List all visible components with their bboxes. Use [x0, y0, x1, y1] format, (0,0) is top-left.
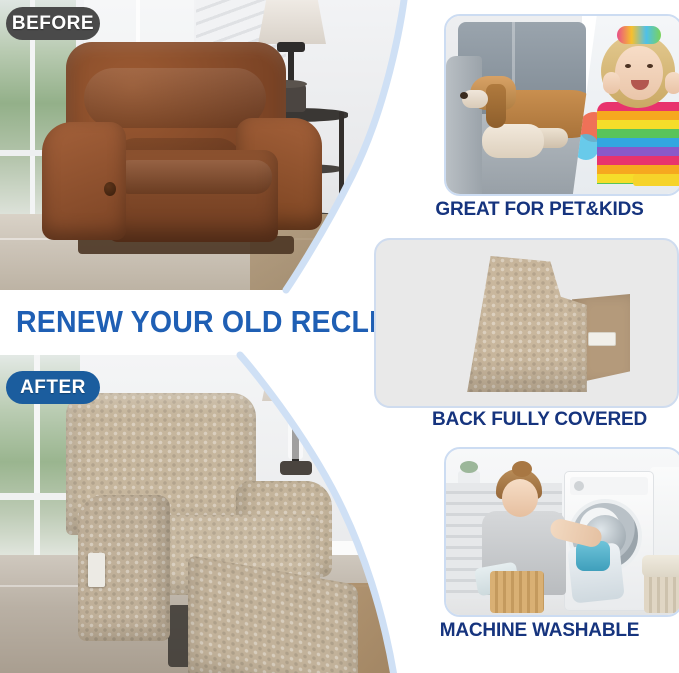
laundry-basket	[490, 571, 544, 613]
recliner-seat-before	[108, 150, 278, 242]
woman-face	[502, 479, 538, 517]
back-covered-photo	[374, 238, 679, 408]
girl-hair-bow	[617, 26, 661, 44]
dog-chest	[482, 124, 544, 158]
girl-face	[615, 46, 663, 100]
caption-pet-kids: GREAT FOR PET&KIDS	[400, 199, 679, 221]
badge-before: BEFORE	[6, 7, 100, 40]
hamper-cloth	[642, 555, 679, 577]
badge-after: AFTER	[6, 371, 100, 404]
product-infographic: BEFORE RENEW YOUR OLD RECLINER AFTER	[0, 0, 679, 673]
woman-hair-bun	[512, 461, 532, 477]
slipcover-brand-label	[588, 332, 616, 346]
girl-scene	[573, 16, 679, 194]
girl-eye-right	[647, 64, 653, 68]
washer-dial	[574, 481, 584, 491]
lamp-shade-before	[258, 0, 326, 44]
lamp-glass-after	[288, 411, 303, 459]
lamp-shade-after	[262, 355, 332, 401]
slipcover-back-panel	[462, 256, 592, 392]
lamp-base-after	[280, 461, 312, 475]
recliner-arm-left-before	[42, 122, 126, 240]
page-title: RENEW YOUR OLD RECLINER	[16, 300, 384, 344]
toy-block-yellow	[633, 174, 679, 186]
dog-scene	[446, 16, 582, 194]
pet-kids-photo	[444, 14, 679, 196]
dog-ear	[486, 84, 506, 128]
dog-nose	[460, 92, 468, 99]
machine-washable-photo	[444, 447, 679, 617]
recliner-knob-before	[104, 182, 116, 196]
girl-hand-left	[603, 72, 620, 94]
girl-striped-shirt	[597, 102, 679, 184]
caption-machine-washable: MACHINE WASHABLE	[400, 620, 679, 642]
before-photo	[0, 0, 430, 290]
side-table-leg-right	[339, 112, 344, 230]
caption-back-covered: BACK FULLY COVERED	[400, 409, 679, 431]
slipcover-side-pocket-tag	[88, 553, 105, 587]
girl-eye-left	[625, 64, 631, 68]
sofa-armrest	[446, 56, 482, 194]
girl-hand-right	[665, 72, 679, 94]
